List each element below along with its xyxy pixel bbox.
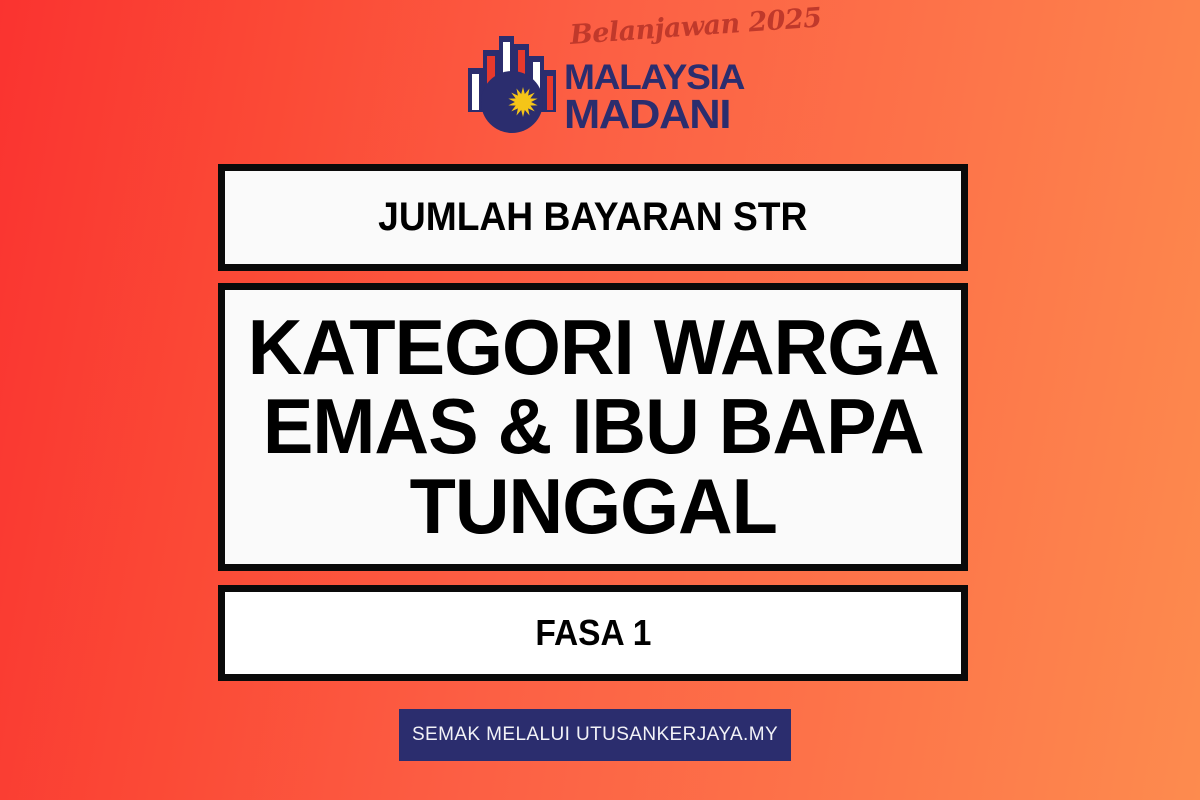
brand-line-malaysia: MALAYSIA <box>564 60 744 95</box>
malaysia-madani-crescent-star-buildings-icon <box>466 30 558 134</box>
title-line-3: TUNGGAL <box>247 467 938 547</box>
subtitle-text: JUMLAH BAYARAN STR <box>378 197 807 238</box>
brand-line-madani: MADANI <box>564 94 730 135</box>
cta-bar[interactable]: SEMAK MELALUI UTUSANKERJAYA.MY <box>399 709 791 761</box>
title-box: KATEGORI WARGA EMAS & IBU BAPA TUNGGAL <box>218 283 968 571</box>
phase-box: FASA 1 <box>218 585 968 681</box>
budget-year-script: Belanjawan 2025 <box>569 2 823 51</box>
malaysia-madani-logo: Belanjawan 2025 MALAYSIA MADANI <box>466 18 736 136</box>
title-line-1: KATEGORI WARGA <box>247 308 938 388</box>
logo-wordmark: Belanjawan 2025 MALAYSIA MADANI <box>564 18 736 136</box>
cta-label: SEMAK MELALUI UTUSANKERJAYA.MY <box>412 724 778 746</box>
title-line-2: EMAS & IBU BAPA <box>247 387 938 467</box>
page-title: KATEGORI WARGA EMAS & IBU BAPA TUNGGAL <box>247 308 938 547</box>
phase-text: FASA 1 <box>535 615 651 652</box>
subtitle-box: JUMLAH BAYARAN STR <box>218 164 968 271</box>
